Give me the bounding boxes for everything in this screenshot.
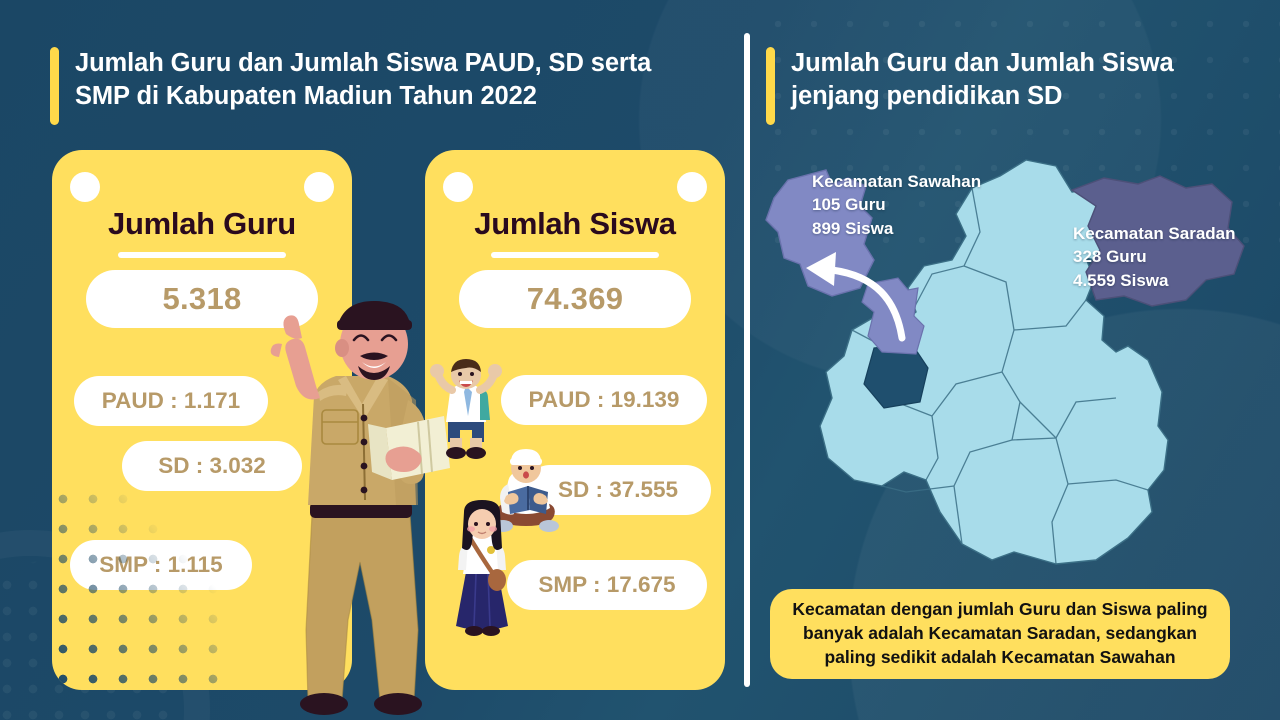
stat-pill-siswa-paud: PAUD : 19.139 <box>501 375 707 425</box>
left-title-text: Jumlah Guru dan Jumlah Siswa PAUD, SD se… <box>75 47 651 125</box>
stat-pill-guru-paud: PAUD : 1.171 <box>74 376 268 426</box>
card-underline <box>118 252 286 258</box>
card-hole-dot-right <box>304 172 334 202</box>
card-hole-dot-right <box>677 172 707 202</box>
stat-pill-guru-smp: SMP : 1.115 <box>70 540 252 590</box>
summary-note-text: Kecamatan dengan jumlah Guru dan Siswa p… <box>792 598 1207 669</box>
title-accent-bar <box>766 47 775 125</box>
left-panel-title: Jumlah Guru dan Jumlah Siswa PAUD, SD se… <box>50 47 710 125</box>
card-total-guru: 5.318 <box>86 270 318 328</box>
map-label-kecamatan-saradan: Kecamatan Saradan 328 Guru 4.559 Siswa <box>1073 222 1280 292</box>
card-total-siswa: 74.369 <box>459 270 691 328</box>
card-title-siswa: Jumlah Siswa <box>425 206 725 242</box>
stat-pill-siswa-smp: SMP : 17.675 <box>507 560 707 610</box>
stat-pill-siswa-sd: SD : 37.555 <box>525 465 711 515</box>
infographic-canvas: Jumlah Guru dan Jumlah Siswa PAUD, SD se… <box>0 0 1280 720</box>
panel-divider <box>744 33 750 687</box>
card-title-guru: Jumlah Guru <box>52 206 352 242</box>
stat-card-guru: Jumlah Guru 5.318 PAUD : 1.171 SD : 3.03… <box>52 150 352 690</box>
right-title-text: Jumlah Guru dan Jumlah Siswa jenjang pen… <box>791 47 1174 125</box>
summary-note-box: Kecamatan dengan jumlah Guru dan Siswa p… <box>770 589 1230 679</box>
right-panel-title: Jumlah Guru dan Jumlah Siswa jenjang pen… <box>766 47 1236 125</box>
stat-pill-guru-sd: SD : 3.032 <box>122 441 302 491</box>
card-underline <box>491 252 659 258</box>
map-label-kecamatan-sawahan: Kecamatan Sawahan 105 Guru 899 Siswa <box>812 170 1042 240</box>
card-hole-dot-left <box>70 172 100 202</box>
title-accent-bar <box>50 47 59 125</box>
card-hole-dot-left <box>443 172 473 202</box>
stat-card-siswa: Jumlah Siswa 74.369 PAUD : 19.139 SD : 3… <box>425 150 725 690</box>
